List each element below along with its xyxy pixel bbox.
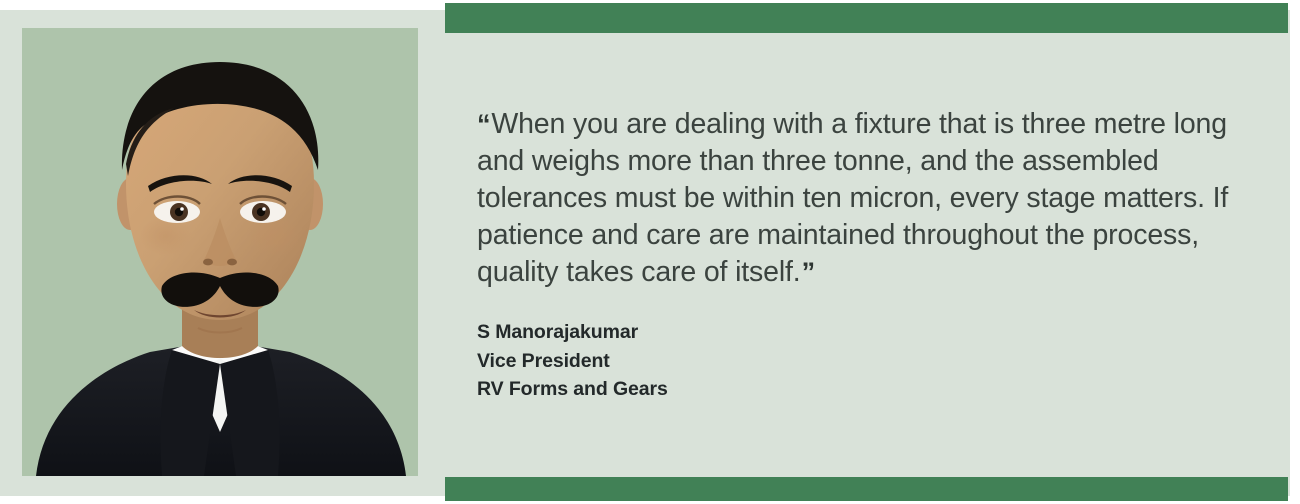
attribution-name: S Manorajakumar [477,318,1267,347]
attribution: S Manorajakumar Vice President RV Forms … [477,318,1267,404]
open-quote-mark: “ [477,109,490,139]
pull-quote-card: “When you are dealing with a fixture tha… [0,0,1300,504]
accent-rule-bottom [445,477,1288,501]
attribution-organisation: RV Forms and Gears [477,375,1267,404]
quote-column: “When you are dealing with a fixture tha… [477,106,1267,404]
quote-body: When you are dealing with a fixture that… [477,108,1228,288]
portrait-photo [22,28,418,476]
quote-text: “When you are dealing with a fixture tha… [477,106,1267,291]
accent-rule-top [445,3,1288,33]
close-quote-mark: ” [802,257,815,287]
attribution-title: Vice President [477,347,1267,376]
